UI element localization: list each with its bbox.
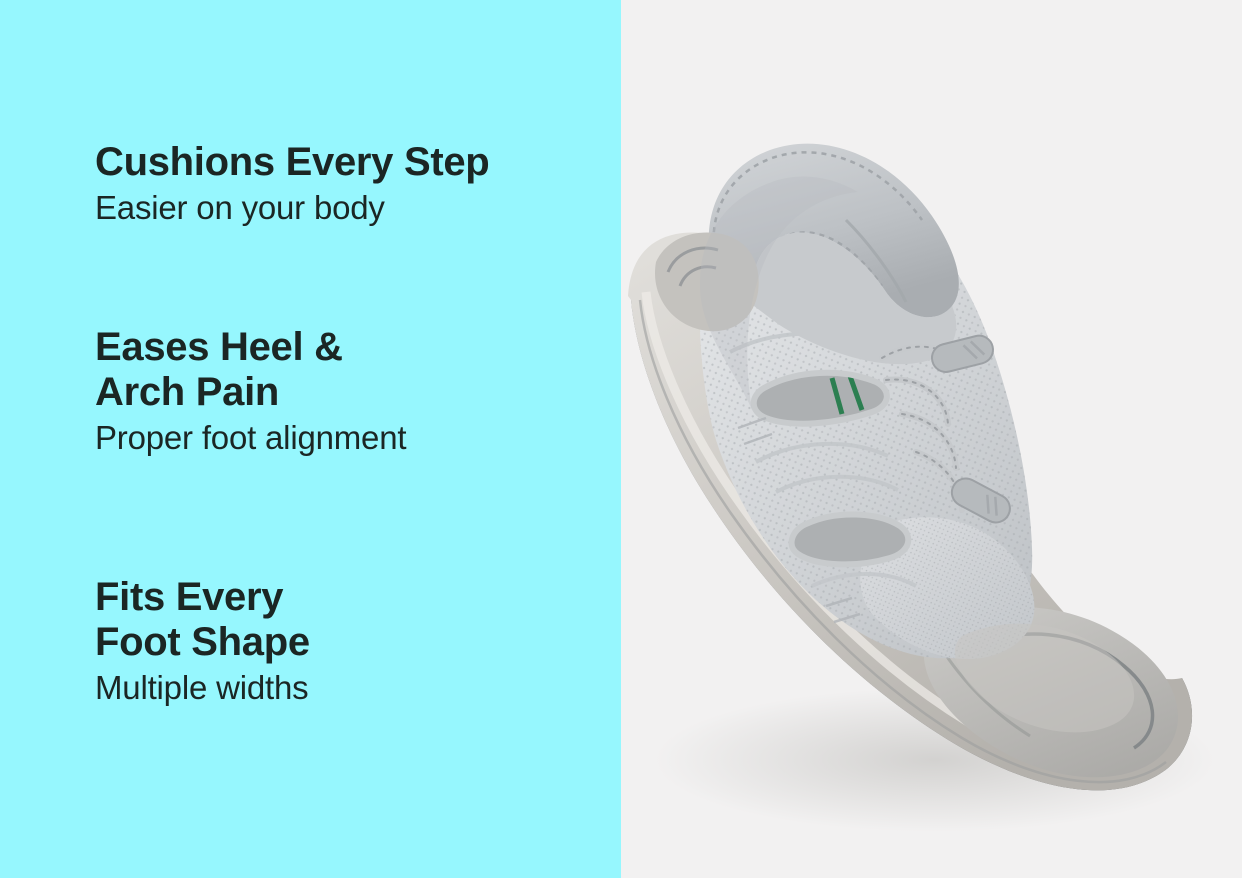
product-feature-banner: Cushions Every Step Easier on your body …	[0, 0, 1242, 878]
feature-subtitle: Proper foot alignment	[95, 419, 595, 458]
feature-block-heel-arch: Eases Heel & Arch Pain Proper foot align…	[95, 325, 595, 458]
feature-headline: Cushions Every Step	[95, 140, 595, 185]
product-photo-panel	[621, 0, 1242, 878]
feature-subtitle: Easier on your body	[95, 189, 595, 228]
feature-subtitle: Multiple widths	[95, 669, 595, 708]
feature-block-fit: Fits Every Foot Shape Multiple widths	[95, 575, 595, 708]
copy-panel: Cushions Every Step Easier on your body …	[0, 0, 621, 878]
feature-headline: Eases Heel & Arch Pain	[95, 325, 595, 415]
feature-headline: Fits Every Foot Shape	[95, 575, 595, 665]
feature-block-cushions: Cushions Every Step Easier on your body	[95, 140, 595, 228]
sandal-product-image	[621, 0, 1242, 878]
